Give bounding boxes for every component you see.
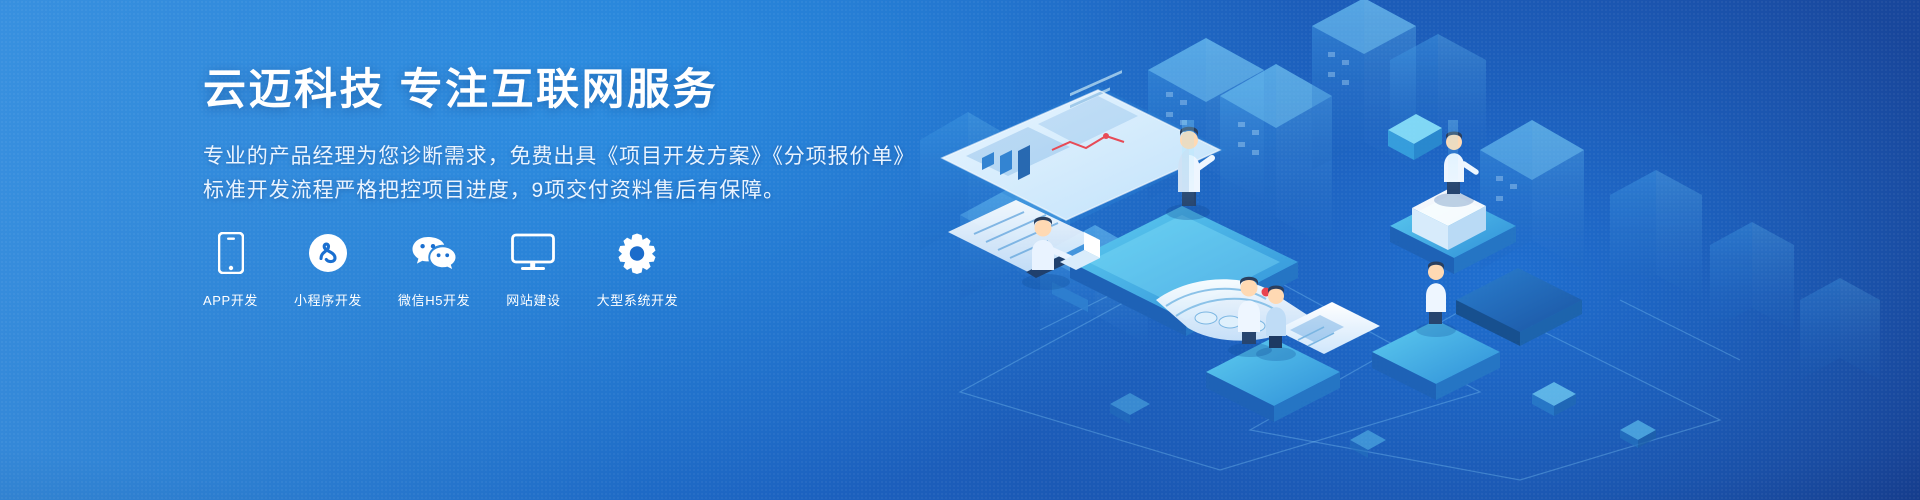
- mini-program-icon: [308, 230, 348, 276]
- service-label: 微信H5开发: [398, 290, 470, 309]
- subtitle-line-1: 专业的产品经理为您诊断需求，免费出具《项目开发方案》《分项报价单》: [203, 140, 903, 174]
- service-item-wechat-h5[interactable]: 微信H5开发: [398, 230, 470, 309]
- gear-icon: [616, 230, 658, 276]
- service-label: APP开发: [203, 290, 258, 309]
- service-item-website[interactable]: 网站建设: [506, 230, 560, 309]
- service-item-app[interactable]: APP开发: [203, 230, 258, 309]
- subtitle-line-2: 标准开发流程严格把控项目进度，9项交付资料售后有保障。: [203, 174, 903, 208]
- page-title: 云迈科技 专注互联网服务: [203, 66, 903, 114]
- wechat-icon: [411, 230, 457, 276]
- step-platform-lower-right: [1456, 268, 1582, 346]
- monitor-icon: [511, 230, 555, 276]
- service-list: APP开发 小程序开发 微信: [203, 230, 678, 309]
- hero-banner: 云迈科技 专注互联网服务 专业的产品经理为您诊断需求，免费出具《项目开发方案》《…: [0, 0, 1920, 500]
- service-item-miniprogram[interactable]: 小程序开发: [294, 230, 362, 309]
- hero-subtitle: 专业的产品经理为您诊断需求，免费出具《项目开发方案》《分项报价单》 标准开发流程…: [203, 140, 903, 208]
- service-label: 网站建设: [506, 290, 560, 309]
- person-far-right: [1416, 262, 1456, 338]
- hero-illustration: [920, 0, 1920, 500]
- mobile-phone-icon: [218, 230, 244, 276]
- service-label: 小程序开发: [294, 290, 362, 309]
- service-item-large-system[interactable]: 大型系统开发: [597, 230, 679, 309]
- service-label: 大型系统开发: [597, 290, 679, 309]
- hero-copy: 云迈科技 专注互联网服务 专业的产品经理为您诊断需求，免费出具《项目开发方案》《…: [203, 66, 903, 208]
